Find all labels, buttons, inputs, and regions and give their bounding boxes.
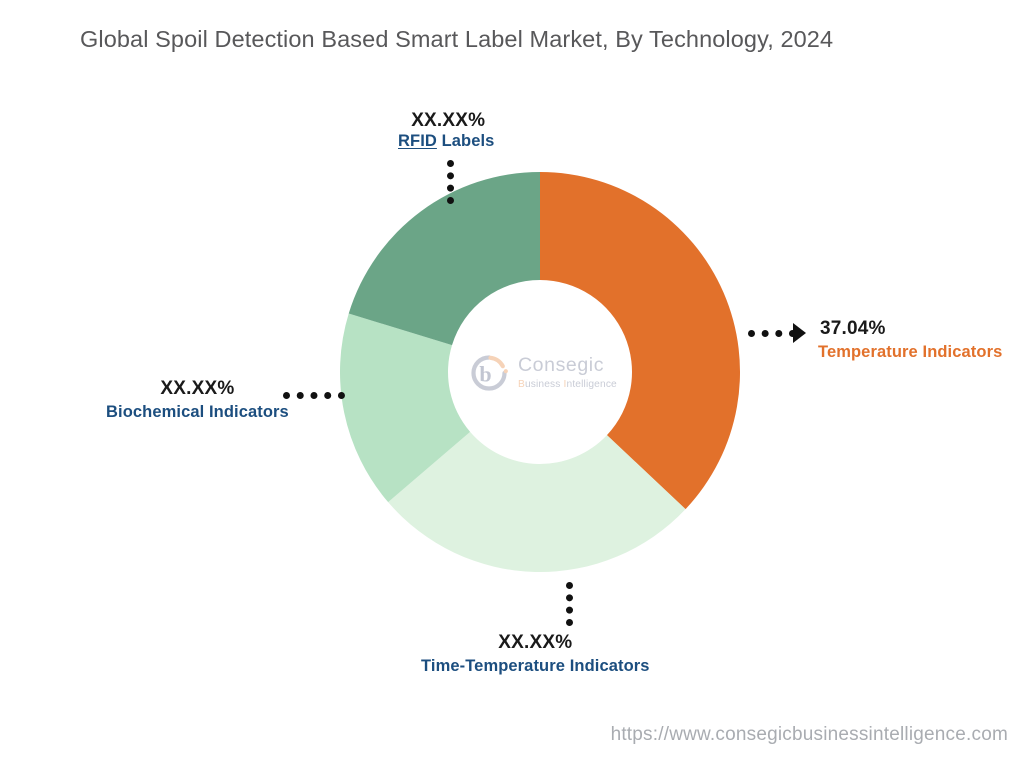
leader-line-time-temperature	[566, 582, 580, 626]
slice-value-rfid-labels: XX.XX%	[402, 110, 494, 132]
chart-page: Global Spoil Detection Based Smart Label…	[0, 0, 1024, 768]
donut-slices	[340, 172, 740, 572]
donut-chart	[340, 172, 740, 572]
slice-name-rfid-labels: RFID Labels	[398, 132, 494, 151]
slice-name-rfid-underlined: RFID	[398, 132, 437, 150]
slice-value-temperature-indicators: 37.04%	[820, 318, 1002, 340]
donut-svg	[340, 172, 740, 572]
slice-label-temperature-indicators: 37.04% Temperature Indicators	[818, 318, 1002, 362]
donut-slice-temperature-indicators[interactable]	[540, 172, 740, 509]
slice-name-biochemical-indicators: Biochemical Indicators	[106, 403, 289, 422]
slice-value-biochemical-indicators: XX.XX%	[106, 378, 289, 400]
leader-arrow-temperature-icon	[793, 323, 806, 343]
slice-name-time-temperature-indicators: Time-Temperature Indicators	[421, 657, 650, 676]
leader-line-rfid	[447, 160, 461, 204]
slice-label-time-temperature-indicators: XX.XX% Time-Temperature Indicators	[421, 632, 650, 676]
slice-name-rfid-rest: Labels	[437, 132, 495, 150]
leader-line-biochemical	[283, 392, 345, 406]
page-title: Global Spoil Detection Based Smart Label…	[80, 26, 833, 53]
slice-label-rfid-labels: XX.XX% RFID Labels	[398, 110, 494, 151]
leader-line-temperature	[748, 330, 796, 344]
donut-slice-rfid-labels[interactable]	[349, 172, 540, 345]
source-url: https://www.consegicbusinessintelligence…	[611, 724, 1008, 746]
slice-label-biochemical-indicators: XX.XX% Biochemical Indicators	[106, 378, 289, 422]
slice-name-temperature-indicators: Temperature Indicators	[818, 343, 1002, 362]
slice-value-time-temperature-indicators: XX.XX%	[421, 632, 650, 654]
